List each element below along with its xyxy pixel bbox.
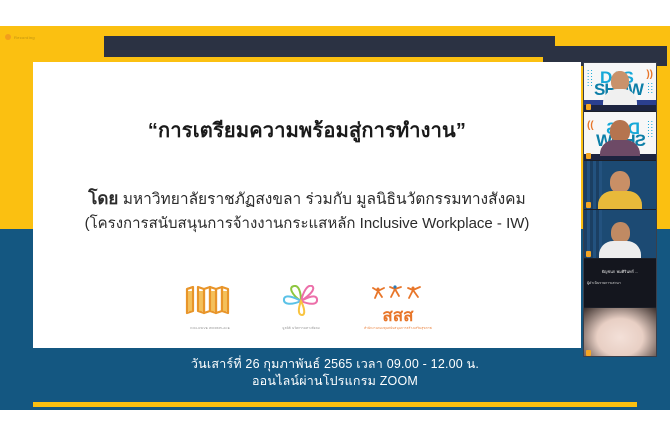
mic-indicator-icon: [586, 104, 591, 110]
thaihealth-wordmark: สสส: [364, 308, 432, 324]
slide-subtitle-organizers: มหาวิทยาลัยราชภัฏสงขลา ร่วมกับ มูลนิธินว…: [123, 191, 526, 208]
bright-backdrop: [584, 308, 656, 357]
participant-tile[interactable]: :::::: DAS SHOW )) ::::: [584, 63, 656, 112]
slide-content-card: “การเตรียมความพร้อมสู่การทำงาน” โดย มหาว…: [33, 62, 581, 348]
participant-tile[interactable]: [584, 210, 656, 259]
social-innovation-foundation-caption: มูลนิธิ นวัตกรรมทางสังคม: [278, 326, 324, 330]
dot-pattern-icon: ::::: [647, 83, 654, 95]
participant-tile[interactable]: :::::: DAS SHOW )): [584, 112, 656, 161]
dot-pattern-icon: ::::::: [646, 121, 653, 139]
thaihealth-logo: สสส สำนักงานกองทุนสนับสนุนการสร้างเสริมส…: [364, 284, 432, 330]
dot-pattern-icon: ::::::: [587, 70, 594, 88]
backdrop-footer: [584, 105, 656, 111]
recording-label: Recording: [14, 35, 35, 40]
iw-logo: INCLUSIVE WORKPLACE: [182, 285, 238, 330]
slide-title: “การเตรียมความพร้อมสู่การทำงาน”: [33, 114, 581, 146]
slide-subtitle-line-2: (โครงการสนับสนุนการจ้างงานกระแสหลัก Incl…: [33, 212, 581, 236]
tile-caption-title: ธัญชนก พมศิรินทร์ ...: [584, 269, 656, 275]
participant-video: [600, 120, 640, 156]
participant-tile[interactable]: [584, 161, 656, 210]
flower-logo-mark: [278, 285, 324, 319]
mic-indicator-icon: [586, 350, 591, 356]
sound-wave-icon: )): [587, 120, 594, 131]
tile-caption-subtitle: ผู้ดำเนินรายการเสวนา: [587, 281, 655, 286]
thaihealth-caption: สำนักงานกองทุนสนับสนุนการสร้างเสริมสุขภา…: [364, 326, 432, 330]
thaihealth-figures-icon: [369, 284, 427, 304]
shared-slide: Recording “การเตรียมความพร้อมสู่การทำงาน…: [0, 26, 670, 410]
record-dot-icon: [5, 34, 11, 40]
iw-logo-mark: [182, 285, 238, 319]
slide-subtitle-lead: โดย: [88, 189, 118, 208]
recording-badge: Recording: [5, 34, 35, 40]
participant-video: [599, 222, 641, 258]
slide-subtitle-line-1: โดย มหาวิทยาลัยราชภัฏสงขลา ร่วมกับ มูลนิ…: [33, 187, 581, 212]
slide-bottom-rule: [33, 402, 637, 407]
mic-indicator-icon: [586, 251, 591, 257]
mic-indicator-icon: [586, 153, 591, 159]
participant-video: [603, 71, 637, 105]
slide-footer-date: วันเสาร์ที่ 26 กุมภาพันธ์ 2565 เวลา 09.0…: [0, 356, 670, 373]
slide-footer: วันเสาร์ที่ 26 กุมภาพันธ์ 2565 เวลา 09.0…: [0, 356, 670, 390]
mic-indicator-icon: [586, 202, 591, 208]
social-innovation-foundation-logo: มูลนิธิ นวัตกรรมทางสังคม: [278, 285, 324, 330]
participant-video: [598, 171, 642, 209]
logo-row: INCLUSIVE WORKPLACE มูลนิธิ นวัตกรรมทางส…: [33, 284, 581, 330]
slide-subtitle: โดย มหาวิทยาลัยราชภัฏสงขลา ร่วมกับ มูลนิ…: [33, 187, 581, 236]
screen: Recording “การเตรียมความพร้อมสู่การทำงาน…: [0, 0, 670, 447]
participant-filmstrip[interactable]: :::::: DAS SHOW )) :::: :::::: DAS SHOW …: [583, 62, 657, 357]
slide-footer-platform: ออนไลน์ผ่านโปรแกรม ZOOM: [0, 373, 670, 390]
slide-top-dark-bar: [104, 36, 555, 57]
participant-tile[interactable]: [584, 308, 656, 357]
sound-wave-icon: )): [646, 69, 653, 80]
iw-logo-caption: INCLUSIVE WORKPLACE: [182, 326, 238, 330]
participant-tile[interactable]: ธัญชนก พมศิรินทร์ ... ผู้ดำเนินรายการเสว…: [584, 259, 656, 308]
